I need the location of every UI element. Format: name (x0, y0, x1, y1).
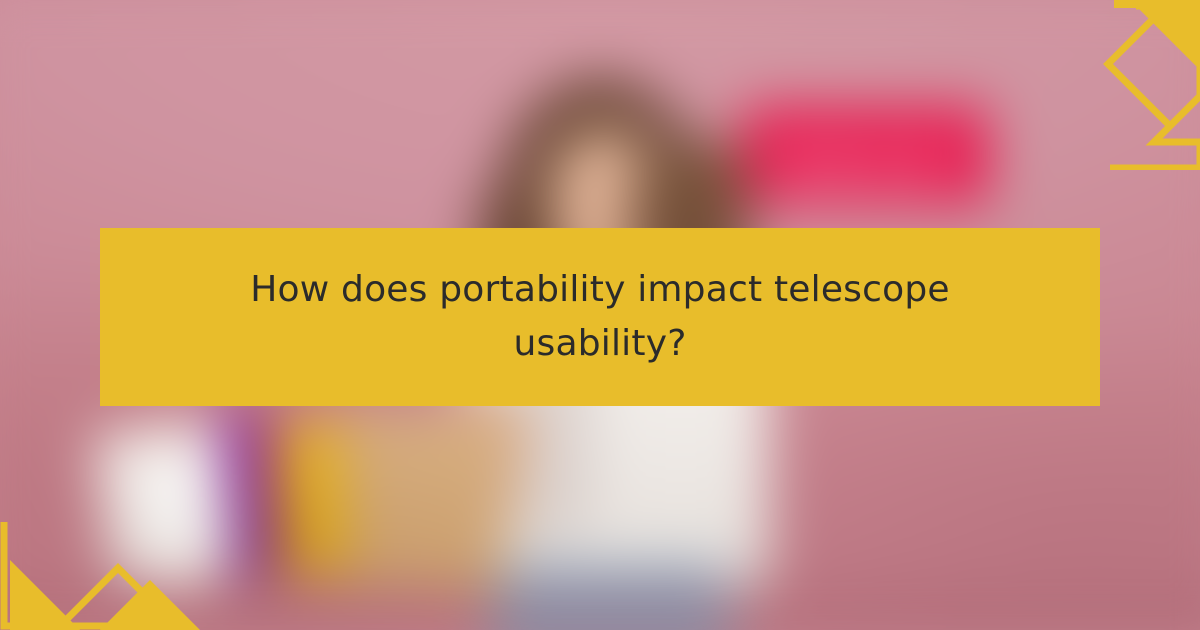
headline-text: How does portability impact telescope us… (160, 263, 1040, 371)
sale-sign-label: SALE (743, 142, 989, 189)
shopping-bag-tan (329, 405, 511, 597)
chevron-top-right-icon (1010, 0, 1200, 170)
chevron-bottom-left-icon (0, 430, 210, 630)
headline-banner: How does portability impact telescope us… (100, 228, 1100, 406)
social-card: SALE (0, 0, 1200, 630)
